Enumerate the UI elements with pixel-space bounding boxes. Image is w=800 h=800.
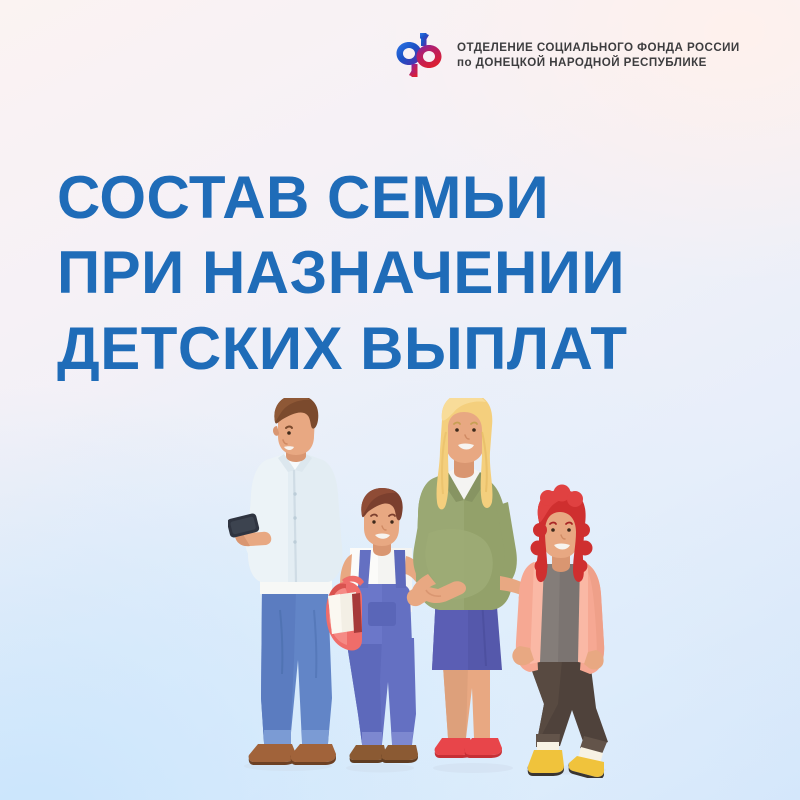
organization-line-2-region: ДОНЕЦКОЙ НАРОДНОЙ РЕСПУБЛИКЕ [476, 56, 707, 69]
organization-line-2-prefix: по [457, 56, 476, 69]
page-title-line-3: ДЕТСКИХ ВЫПЛАТ [57, 311, 747, 386]
page-title-line-1: СОСТАВ СЕМЬИ [57, 160, 747, 235]
poster-canvas: ОТДЕЛЕНИЕ СОЦИАЛЬНОГО ФОНДА РОССИИ по ДО… [0, 0, 800, 800]
family-illustration [228, 398, 652, 778]
shadow-son [346, 764, 414, 773]
figure-father [228, 398, 343, 765]
figure-daughter [512, 485, 608, 779]
shadow-mother [433, 763, 513, 773]
page-title: СОСТАВ СЕМЬИ ПРИ НАЗНАЧЕНИИ ДЕТСКИХ ВЫПЛ… [57, 160, 747, 386]
organization-header: ОТДЕЛЕНИЕ СОЦИАЛЬНОГО ФОНДА РОССИИ по ДО… [394, 31, 740, 79]
organization-name: ОТДЕЛЕНИЕ СОЦИАЛЬНОГО ФОНДА РОССИИ по ДО… [457, 40, 740, 71]
organization-line-2: по ДОНЕЦКОЙ НАРОДНОЙ РЕСПУБЛИКЕ [457, 55, 740, 70]
boot-left [528, 750, 564, 773]
sfr-logo-icon [394, 31, 444, 79]
organization-line-1: ОТДЕЛЕНИЕ СОЦИАЛЬНОГО ФОНДА РОССИИ [457, 40, 740, 55]
page-title-line-2: ПРИ НАЗНАЧЕНИИ [57, 235, 747, 310]
